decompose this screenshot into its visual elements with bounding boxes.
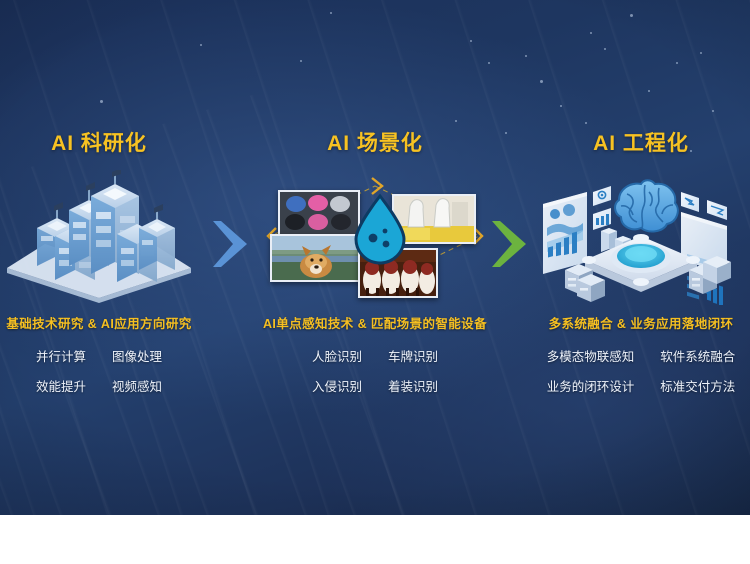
artwork-isometric-server-city	[0, 170, 224, 305]
chevron-right-icon	[207, 218, 253, 270]
list-item: 图像处理	[112, 346, 162, 365]
column-caption-engineering: 多系统融合 & 业务应用落地闭环	[516, 313, 750, 332]
column-caption-scenario: AI单点感知技术 & 匹配场景的智能设备	[250, 313, 500, 332]
list-item: 入侵识别	[312, 376, 362, 395]
list-item: 软件系统融合	[660, 346, 735, 365]
stage-column-engineering: AI 工程化	[516, 130, 750, 395]
column-items-engineering: 多模态物联感知 软件系统融合 业务的闭环设计 标准交付方法	[516, 346, 750, 395]
arrow-research-to-scenario	[207, 218, 253, 270]
list-item: 并行计算	[36, 346, 86, 365]
list-item: 视频感知	[112, 376, 162, 395]
column-items-scenario: 人脸识别 车牌识别 入侵识别 着装识别	[250, 346, 500, 395]
list-item: 人脸识别	[312, 346, 362, 365]
water-drop-icon	[350, 192, 410, 266]
list-item: 效能提升	[36, 376, 86, 395]
artwork-photo-collage	[250, 170, 500, 305]
artwork-ai-brain-dashboard	[516, 170, 750, 305]
list-item: 车牌识别	[388, 346, 438, 365]
column-caption-research: 基础技术研究 & AI应用方向研究	[0, 313, 224, 332]
column-items-research: 并行计算 图像处理 效能提升 视频感知	[0, 346, 224, 395]
list-item: 业务的闭环设计	[547, 376, 635, 395]
column-title-research: AI 科研化	[0, 130, 224, 158]
column-title-engineering: AI 工程化	[516, 130, 750, 158]
column-title-scenario: AI 场景化	[250, 130, 500, 158]
stage-column-research: AI 科研化	[0, 130, 224, 395]
list-item: 多模态物联感知	[547, 346, 635, 365]
stage-column-scenario: AI 场景化	[250, 130, 500, 395]
list-item: 着装识别	[388, 376, 438, 395]
thumbnail-helmets	[278, 190, 360, 236]
ai-brain-icon	[531, 170, 750, 305]
server-city-icon	[0, 170, 199, 305]
slide-canvas: AI 科研化	[0, 0, 750, 564]
thumbnail-dog	[270, 234, 360, 282]
list-item: 标准交付方法	[660, 376, 735, 395]
